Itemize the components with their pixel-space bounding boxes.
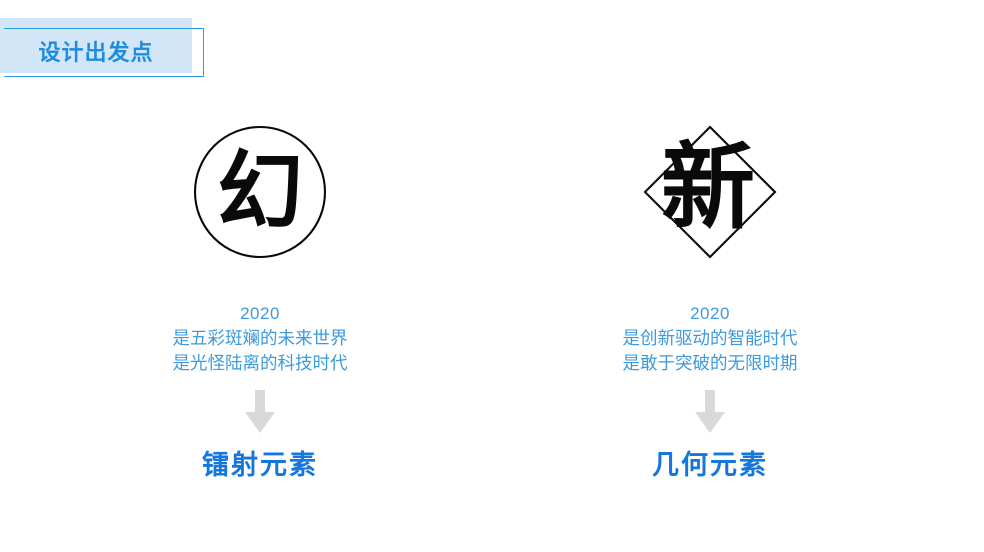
- page-title: 设计出发点: [0, 28, 192, 77]
- description-line-right-1: 是创新驱动的智能时代: [530, 326, 890, 351]
- shape-zone-right: 新: [530, 120, 890, 280]
- arrow-down-icon: [243, 390, 277, 434]
- description-left: 2020 是五彩斑斓的未来世界 是光怪陆离的科技时代: [80, 302, 440, 376]
- description-right: 2020 是创新驱动的智能时代 是敢于突破的无限时期: [530, 302, 890, 376]
- slide-canvas: 设计出发点 幻 2020 是五彩斑斓的未来世界 是光怪陆离的科技时代 镭射元素: [0, 0, 984, 552]
- shape-glyph-left: 幻: [217, 142, 303, 242]
- description-line-right-2: 是敢于突破的无限时期: [530, 351, 890, 376]
- shape-zone-left: 幻: [80, 120, 440, 280]
- content-column-left: 幻 2020 是五彩斑斓的未来世界 是光怪陆离的科技时代 镭射元素: [80, 120, 440, 482]
- element-label-right: 几何元素: [530, 443, 890, 482]
- circle-shape-icon: 幻: [180, 120, 340, 280]
- description-line-left-1: 是五彩斑斓的未来世界: [80, 326, 440, 351]
- year-label-right: 2020: [530, 302, 890, 326]
- arrow-wrap-right: [530, 389, 890, 435]
- content-column-right: 新 2020 是创新驱动的智能时代 是敢于突破的无限时期 几何元素: [530, 120, 890, 482]
- element-label-left: 镭射元素: [80, 443, 440, 482]
- year-label-left: 2020: [80, 302, 440, 326]
- arrow-wrap-left: [80, 389, 440, 435]
- arrow-down-icon: [693, 390, 727, 434]
- description-line-left-2: 是光怪陆离的科技时代: [80, 351, 440, 376]
- slide-title-badge: 设计出发点: [0, 18, 210, 80]
- diamond-shape-icon: 新: [630, 120, 790, 280]
- shape-glyph-right: 新: [661, 134, 755, 243]
